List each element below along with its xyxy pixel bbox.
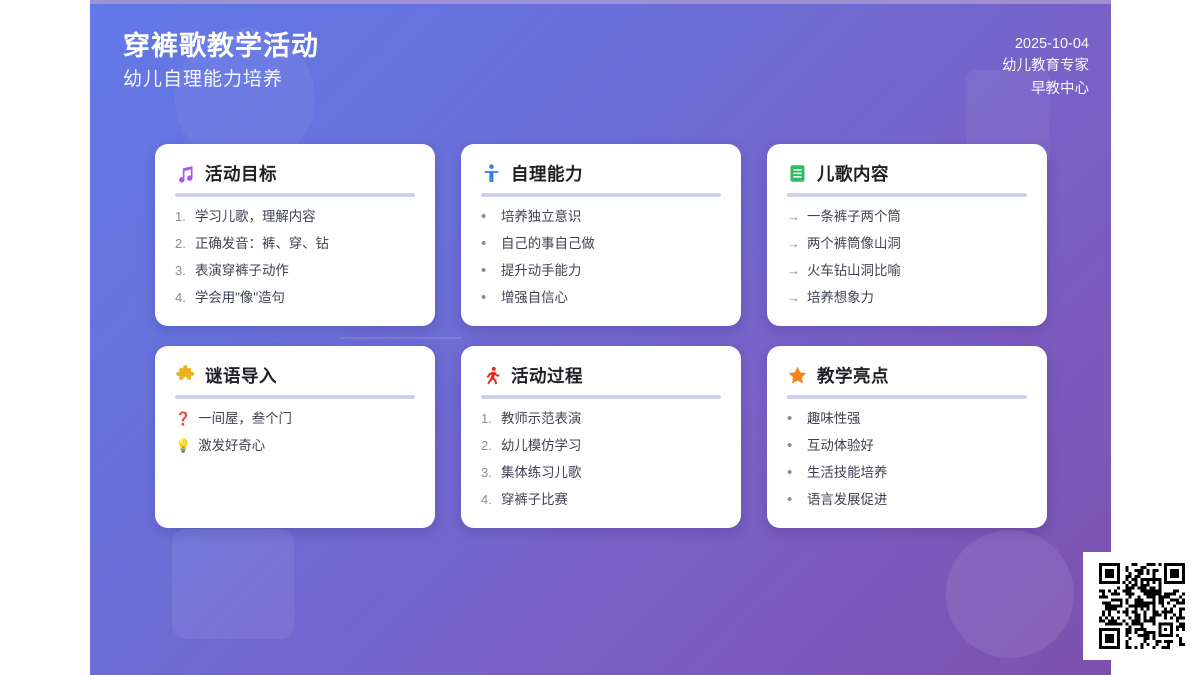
- list-item-text: 两个裤筒像山洞: [807, 235, 901, 253]
- card-title: 活动过程: [511, 363, 583, 388]
- meta-org: 早教中心: [1002, 78, 1089, 100]
- list-item: •培养独立意识: [481, 208, 721, 226]
- list-item-text: 培养独立意识: [501, 208, 581, 226]
- list-item-text: 火车钻山洞比喻: [807, 262, 901, 280]
- card-header: 儿歌内容: [787, 161, 1027, 186]
- list-item-text: 学习儿歌，理解内容: [195, 208, 316, 226]
- list-item-marker: •: [787, 492, 800, 507]
- list-item: •语言发展促进: [787, 491, 1027, 509]
- list-item: →培养想象力: [787, 289, 1027, 307]
- list-item-marker: 3.: [175, 262, 188, 280]
- card-title: 活动目标: [205, 161, 277, 186]
- list-item-marker: •: [481, 263, 494, 278]
- card-grid: 活动目标1.学习儿歌，理解内容2.正确发音：裤、穿、钻3.表演穿裤子动作4.学会…: [155, 144, 1047, 528]
- card-header: 谜语导入: [175, 363, 415, 388]
- list-item-text: 表演穿裤子动作: [195, 262, 289, 280]
- list-item: 1.学习儿歌，理解内容: [175, 208, 415, 226]
- card-header: 教学亮点: [787, 363, 1027, 388]
- meta-date: 2025-10-04: [1002, 33, 1089, 55]
- green-book-icon: [787, 163, 808, 184]
- list-item: →一条裤子两个筒: [787, 208, 1027, 226]
- list-item: ❓一间屋，叁个门: [175, 410, 415, 428]
- list-item-marker: •: [787, 465, 800, 480]
- list-item-marker: 1.: [175, 208, 188, 226]
- orange-star-icon: [787, 365, 808, 386]
- card-list: •趣味性强•互动体验好•生活技能培养•语言发展促进: [787, 410, 1027, 509]
- list-item-marker: 1.: [481, 410, 494, 428]
- list-item-text: 自己的事自己做: [501, 235, 595, 253]
- list-item-text: 增强自信心: [501, 289, 568, 307]
- list-item-marker: •: [481, 209, 494, 224]
- list-item: 4.学会用"像"造句: [175, 289, 415, 307]
- list-item-marker: →: [787, 208, 800, 226]
- list-item-marker: 3.: [481, 464, 494, 482]
- list-item: 2.正确发音：裤、穿、钻: [175, 235, 415, 253]
- list-item: •自己的事自己做: [481, 235, 721, 253]
- slide-header: 穿裤歌教学活动 幼儿自理能力培养 2025-10-04 幼儿教育专家 早教中心: [90, 0, 1111, 124]
- screenshot-canvas: 穿裤歌教学活动 幼儿自理能力培养 2025-10-04 幼儿教育专家 早教中心 …: [0, 0, 1200, 675]
- card-header: 活动过程: [481, 363, 721, 388]
- info-card[interactable]: 自理能力•培养独立意识•自己的事自己做•提升动手能力•增强自信心: [461, 144, 741, 326]
- card-title: 儿歌内容: [817, 161, 889, 186]
- card-header: 自理能力: [481, 161, 721, 186]
- list-item-marker: →: [787, 262, 800, 280]
- info-card[interactable]: 教学亮点•趣味性强•互动体验好•生活技能培养•语言发展促进: [767, 346, 1047, 528]
- list-item-text: 语言发展促进: [807, 491, 887, 509]
- slide-title: 穿裤歌教学活动: [123, 28, 319, 64]
- card-underline: [787, 193, 1027, 197]
- list-item-marker: 4.: [175, 289, 188, 307]
- list-item: →两个裤筒像山洞: [787, 235, 1027, 253]
- card-header: 活动目标: [175, 161, 415, 186]
- meta-author: 幼儿教育专家: [1002, 55, 1089, 77]
- card-title: 谜语导入: [205, 363, 277, 388]
- list-item-text: 互动体验好: [807, 437, 874, 455]
- info-card[interactable]: 活动目标1.学习儿歌，理解内容2.正确发音：裤、穿、钻3.表演穿裤子动作4.学会…: [155, 144, 435, 326]
- presentation-slide: 穿裤歌教学活动 幼儿自理能力培养 2025-10-04 幼儿教育专家 早教中心 …: [90, 0, 1111, 675]
- list-item: 2.幼儿模仿学习: [481, 437, 721, 455]
- list-item-text: 提升动手能力: [501, 262, 581, 280]
- list-item-marker: →: [787, 289, 800, 307]
- list-item-text: 一条裤子两个筒: [807, 208, 901, 226]
- list-item: →火车钻山洞比喻: [787, 262, 1027, 280]
- info-card[interactable]: 儿歌内容→一条裤子两个筒→两个裤筒像山洞→火车钻山洞比喻→培养想象力: [767, 144, 1047, 326]
- puzzle-piece-icon: [175, 365, 196, 386]
- list-item-text: 穿裤子比赛: [501, 491, 568, 509]
- card-list: ❓一间屋，叁个门💡激发好奇心: [175, 410, 415, 455]
- list-item-marker: •: [481, 236, 494, 251]
- list-item: 4.穿裤子比赛: [481, 491, 721, 509]
- card-list: →一条裤子两个筒→两个裤筒像山洞→火车钻山洞比喻→培养想象力: [787, 208, 1027, 307]
- list-item: 3.集体练习儿歌: [481, 464, 721, 482]
- running-person-icon: [481, 365, 502, 386]
- qr-code-panel[interactable]: [1083, 552, 1200, 660]
- list-item-text: 激发好奇心: [198, 437, 265, 455]
- card-list: •培养独立意识•自己的事自己做•提升动手能力•增强自信心: [481, 208, 721, 307]
- card-title: 教学亮点: [817, 363, 889, 388]
- list-item-marker: 4.: [481, 491, 494, 509]
- list-item: 3.表演穿裤子动作: [175, 262, 415, 280]
- list-item-marker: ❓: [175, 410, 191, 428]
- music-note-icon: [175, 163, 196, 184]
- list-item: •互动体验好: [787, 437, 1027, 455]
- list-item-marker: •: [787, 411, 800, 426]
- list-item-marker: •: [481, 290, 494, 305]
- list-item: •趣味性强: [787, 410, 1027, 428]
- list-item-text: 教师示范表演: [501, 410, 581, 428]
- list-item-marker: •: [787, 438, 800, 453]
- list-item-text: 培养想象力: [807, 289, 874, 307]
- list-item-text: 正确发音：裤、穿、钻: [195, 235, 329, 253]
- card-list: 1.学习儿歌，理解内容2.正确发音：裤、穿、钻3.表演穿裤子动作4.学会用"像"…: [175, 208, 415, 307]
- card-underline: [175, 193, 415, 197]
- list-item-text: 集体练习儿歌: [501, 464, 581, 482]
- card-title: 自理能力: [511, 161, 583, 186]
- card-underline: [787, 395, 1027, 399]
- list-item-marker: →: [787, 235, 800, 253]
- list-item: •生活技能培养: [787, 464, 1027, 482]
- decorative-circle-bottom-right: [946, 530, 1074, 658]
- list-item-text: 生活技能培养: [807, 464, 887, 482]
- card-underline: [175, 395, 415, 399]
- list-item-text: 趣味性强: [807, 410, 861, 428]
- list-item-marker: 2.: [481, 437, 494, 455]
- slide-header-meta: 2025-10-04 幼儿教育专家 早教中心: [1002, 33, 1089, 100]
- list-item: 1.教师示范表演: [481, 410, 721, 428]
- card-underline: [481, 193, 721, 197]
- qr-code-icon[interactable]: [1099, 563, 1185, 649]
- list-item-text: 一间屋，叁个门: [198, 410, 292, 428]
- list-item-marker: 💡: [175, 437, 191, 455]
- info-card[interactable]: 谜语导入❓一间屋，叁个门💡激发好奇心: [155, 346, 435, 528]
- info-card[interactable]: 活动过程1.教师示范表演2.幼儿模仿学习3.集体练习儿歌4.穿裤子比赛: [461, 346, 741, 528]
- list-item: •提升动手能力: [481, 262, 721, 280]
- list-item-text: 学会用"像"造句: [195, 289, 285, 307]
- slide-subtitle: 幼儿自理能力培养: [123, 68, 319, 93]
- list-item: 💡激发好奇心: [175, 437, 415, 455]
- child-person-icon: [481, 163, 502, 184]
- slide-header-left: 穿裤歌教学活动 幼儿自理能力培养: [123, 28, 319, 93]
- card-list: 1.教师示范表演2.幼儿模仿学习3.集体练习儿歌4.穿裤子比赛: [481, 410, 721, 509]
- list-item-text: 幼儿模仿学习: [501, 437, 581, 455]
- card-underline: [481, 395, 721, 399]
- list-item: •增强自信心: [481, 289, 721, 307]
- decorative-square-bottom-left: [172, 529, 294, 639]
- list-item-marker: 2.: [175, 235, 188, 253]
